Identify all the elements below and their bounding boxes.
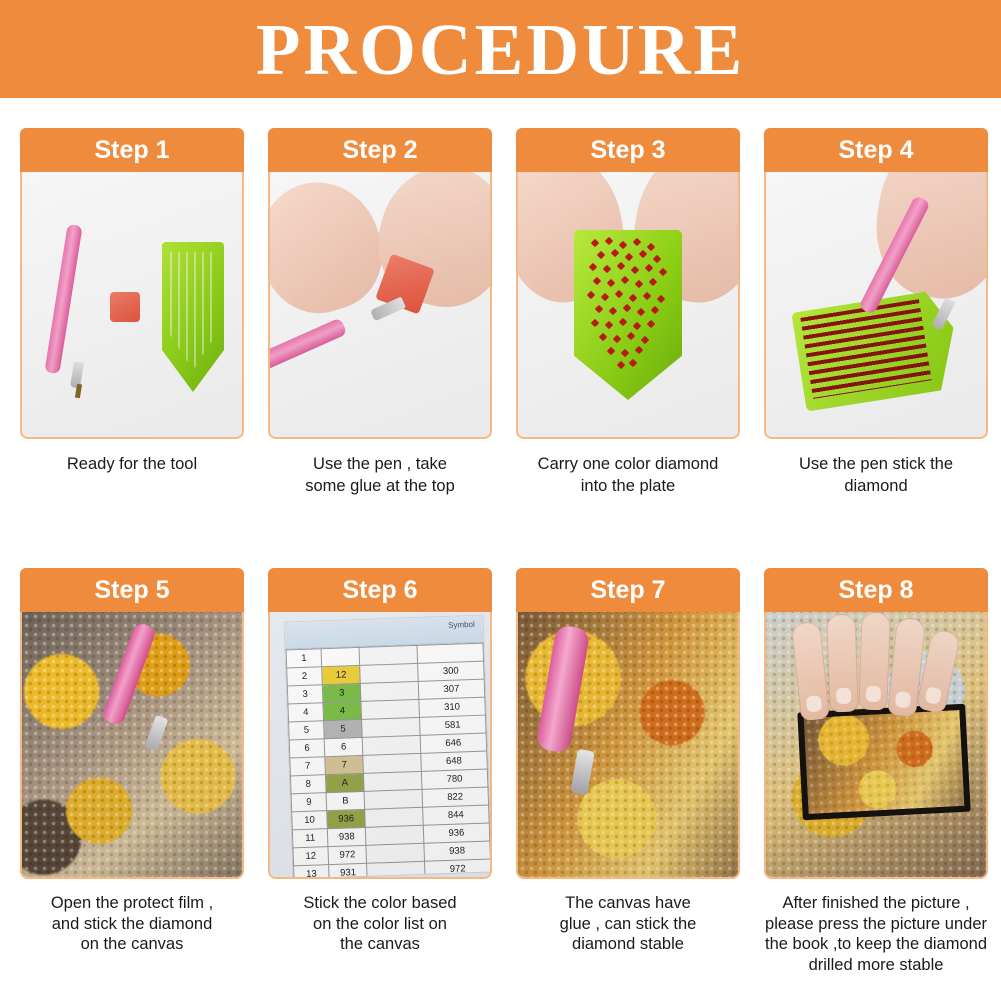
step-8-label: Step 8 [838,576,913,605]
step-5-caption: Open the protect film , and stick the di… [20,893,244,955]
step-5-label: Step 5 [94,576,169,605]
step-7-header: Step 7 [516,568,740,612]
step-1-header: Step 1 [20,128,244,172]
step-card-4: Step 4 Use the pen stick the diamond [764,128,988,498]
step-1-photo [20,172,244,439]
photo-shading [22,172,242,437]
step-card-8: Step 8 After finished the pic [764,568,988,976]
photo-shading [518,172,738,437]
step-6-caption: Stick the color based on the color list … [268,893,492,955]
step-card-5: Step 5 Open the protect film , and stick… [20,568,244,955]
photo-shading [518,612,738,877]
step-8-photo [764,612,988,879]
step-card-2: Step 2 Use the pen , take some glue at t… [268,128,492,498]
step-8-caption: After finished the picture , please pres… [764,893,988,976]
step-4-caption: Use the pen stick the diamond [764,453,988,498]
step-4-label: Step 4 [838,136,913,165]
step-card-3: Step 3 [516,128,740,498]
step-5-photo [20,612,244,879]
page-title: PROCEDURE [256,13,745,86]
step-2-caption: Use the pen , take some glue at the top [268,453,492,498]
step-6-header: Step 6 [268,568,492,612]
step-3-caption: Carry one color diamond into the plate [516,453,740,498]
photo-shading [766,172,986,437]
header-banner: PROCEDURE [0,0,1001,98]
step-2-label: Step 2 [342,136,417,165]
step-6-label: Step 6 [342,576,417,605]
step-2-header: Step 2 [268,128,492,172]
step-6-photo: Symbol 1 2 [268,612,492,879]
procedure-page: PROCEDURE Step 1 Ready fo [0,0,1001,1001]
steps-row-2: Step 5 Open the protect film , and stick… [0,568,1001,1006]
step-7-photo [516,612,740,879]
step-4-photo [764,172,988,439]
photo-shading [22,612,242,877]
step-card-7: Step 7 The canvas have glue , can stick … [516,568,740,955]
step-7-label: Step 7 [590,576,665,605]
step-3-header: Step 3 [516,128,740,172]
photo-shading [270,612,490,877]
step-4-header: Step 4 [764,128,988,172]
step-card-1: Step 1 Ready for the tool [20,128,244,475]
step-5-header: Step 5 [20,568,244,612]
step-3-photo [516,172,740,439]
step-1-caption: Ready for the tool [20,453,244,475]
step-1-label: Step 1 [94,136,169,165]
step-3-label: Step 3 [590,136,665,165]
step-8-header: Step 8 [764,568,988,612]
steps-row-1: Step 1 Ready for the tool Step 2 [0,128,1001,566]
photo-shading [766,612,986,877]
steps-grid: Step 1 Ready for the tool Step 2 [0,98,1001,1001]
step-7-caption: The canvas have glue , can stick the dia… [516,893,740,955]
step-card-6: Step 6 Symbol 1 [268,568,492,955]
step-2-photo [268,172,492,439]
photo-shading [270,172,490,437]
